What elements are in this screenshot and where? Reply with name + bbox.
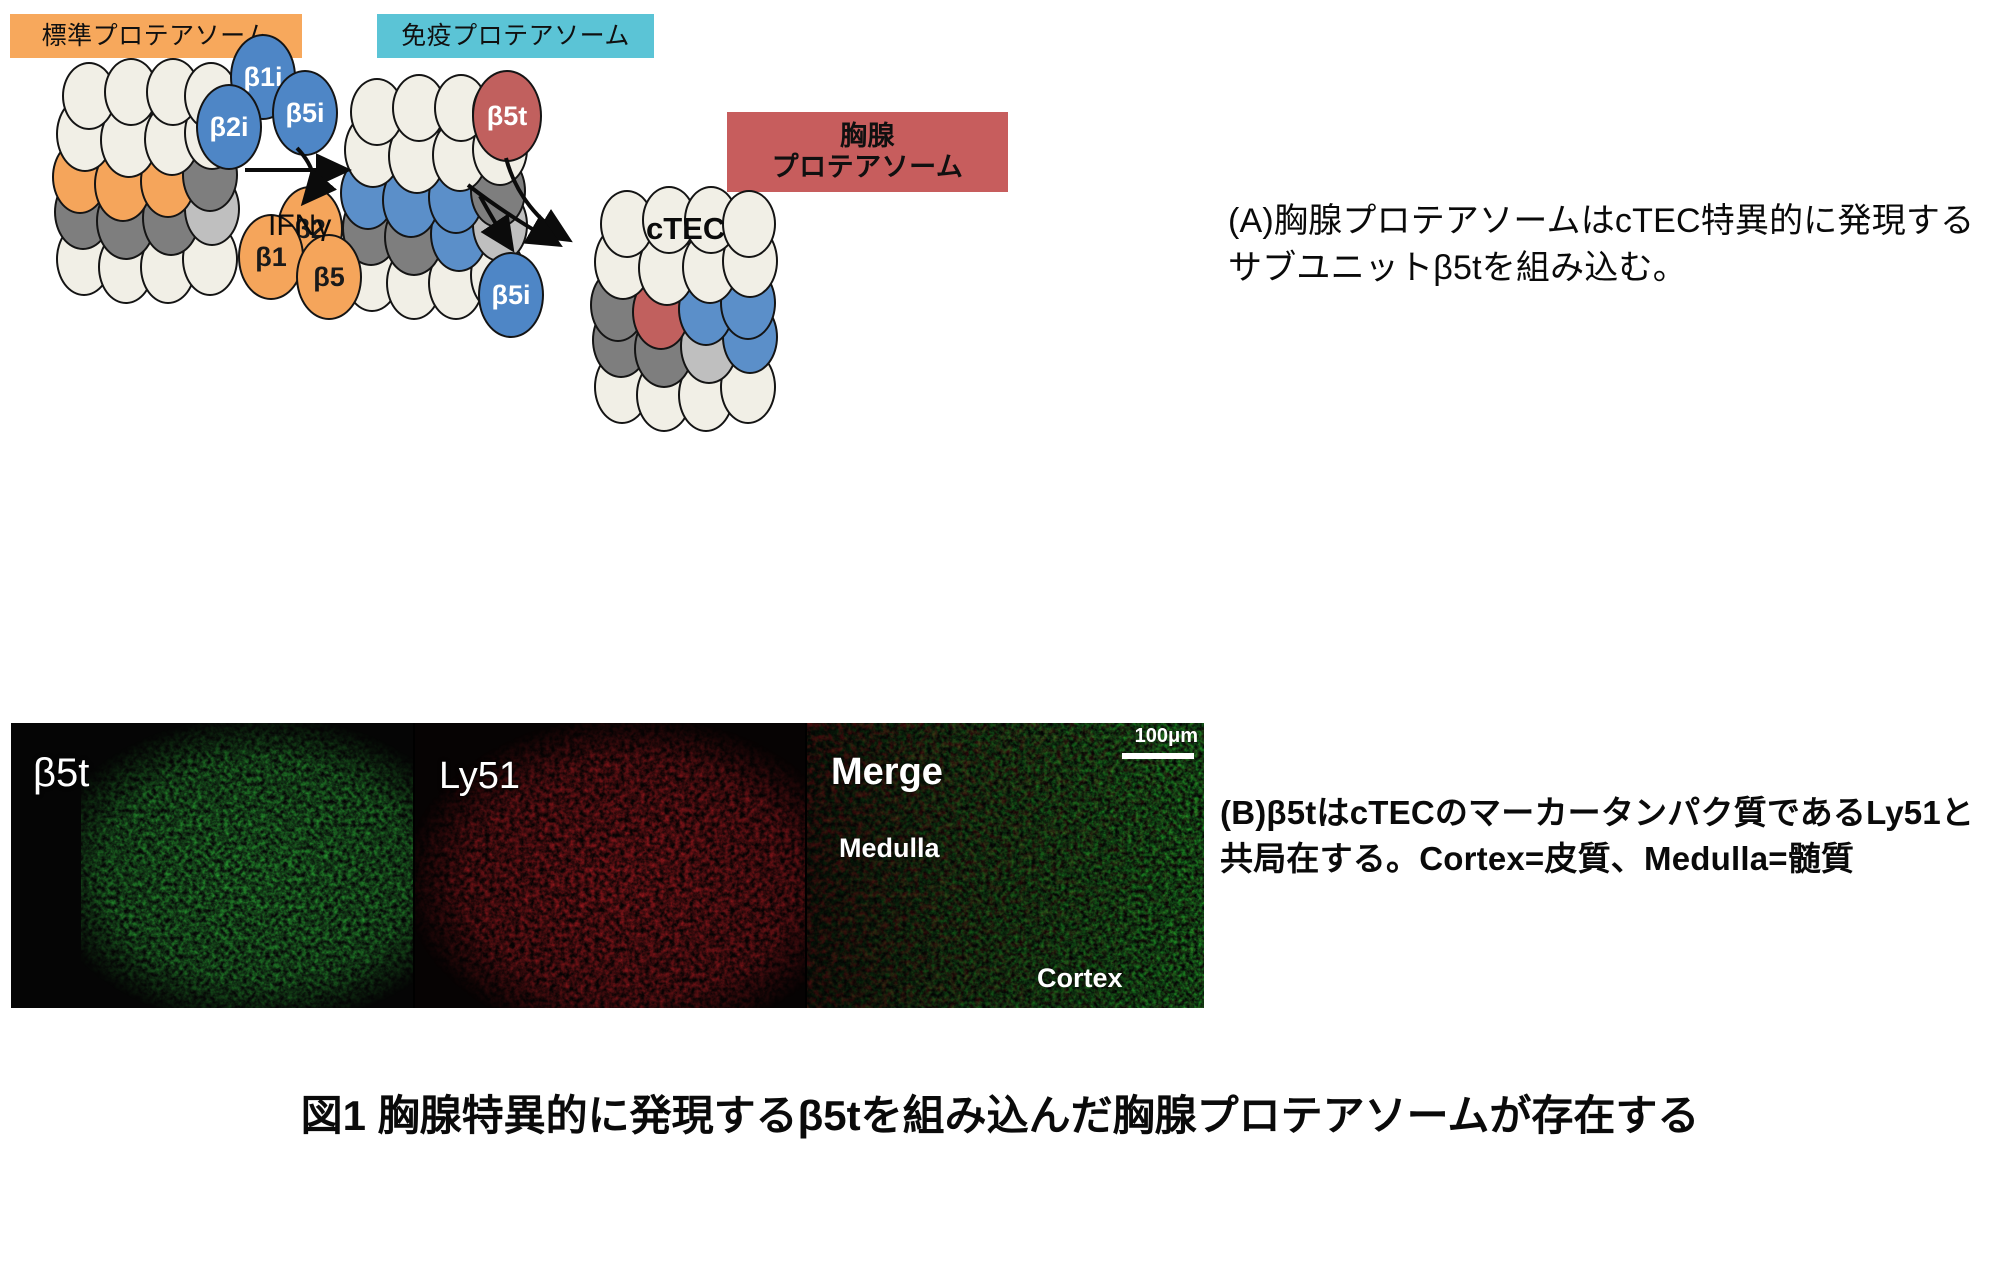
caption-b: (B)β5tはcTECのマーカータンパク質であるLy51と共局在する。Corte… — [1220, 790, 1990, 881]
subunit-b5i: β5i — [272, 70, 338, 156]
subunit-b5t-label: β5t — [487, 101, 528, 132]
subunit-b1-label: β1 — [255, 242, 287, 273]
region-label-medulla: Medulla — [839, 833, 940, 864]
micrograph-panel-ly51: Ly51 — [413, 723, 807, 1008]
immunofluorescence-strip: β5t — [11, 723, 1204, 1008]
ctec-label: cTEC — [646, 211, 725, 247]
region-label-cortex: Cortex — [1037, 963, 1123, 994]
subunit-b5: β5 — [296, 234, 362, 320]
scale-bar — [1122, 753, 1194, 759]
subunit-b5i-released-label: β5i — [492, 280, 531, 311]
micrograph-panel-b5t: β5t — [11, 723, 413, 1008]
figure-canvas: 標準プロテアソーム 免疫プロテアソーム 胸腺 プロテアソーム — [0, 0, 2000, 1276]
thymoproteasome-label: 胸腺 プロテアソーム — [727, 112, 1008, 192]
subunit-b1i-label: β1i — [244, 62, 283, 93]
immunoproteasome-label: 免疫プロテアソーム — [377, 14, 654, 58]
thymoproteasome-label-line1: 胸腺 — [840, 121, 895, 152]
panel-label-ly51: Ly51 — [439, 755, 520, 798]
subunit-b2i-label: β2i — [210, 112, 249, 143]
subunit-b2i: β2i — [196, 84, 262, 170]
scale-bar-label: 100μm — [1135, 725, 1198, 748]
subunit-b5i-label: β5i — [286, 98, 325, 129]
panel-label-b5t: β5t — [33, 751, 89, 796]
subunit-b5i-released: β5i — [478, 252, 544, 338]
subunit-b5t: β5t — [472, 70, 542, 162]
figure-caption: 図1 胸腺特異的に発現するβ5tを組み込んだ胸腺プロテアソームが存在する — [0, 1082, 2000, 1143]
subunit-b5-label: β5 — [313, 262, 345, 293]
ifn-gamma-label: IFNγ — [268, 209, 331, 243]
panel-label-merge: Merge — [831, 751, 943, 794]
caption-a: (A)胸腺プロテアソームはcTEC特異的に発現するサブユニットβ5tを組み込む。 — [1228, 198, 1988, 292]
micrograph-panel-merge: Merge Medulla Cortex 100μm — [805, 723, 1204, 1008]
thymoproteasome-label-line2: プロテアソーム — [772, 152, 964, 183]
